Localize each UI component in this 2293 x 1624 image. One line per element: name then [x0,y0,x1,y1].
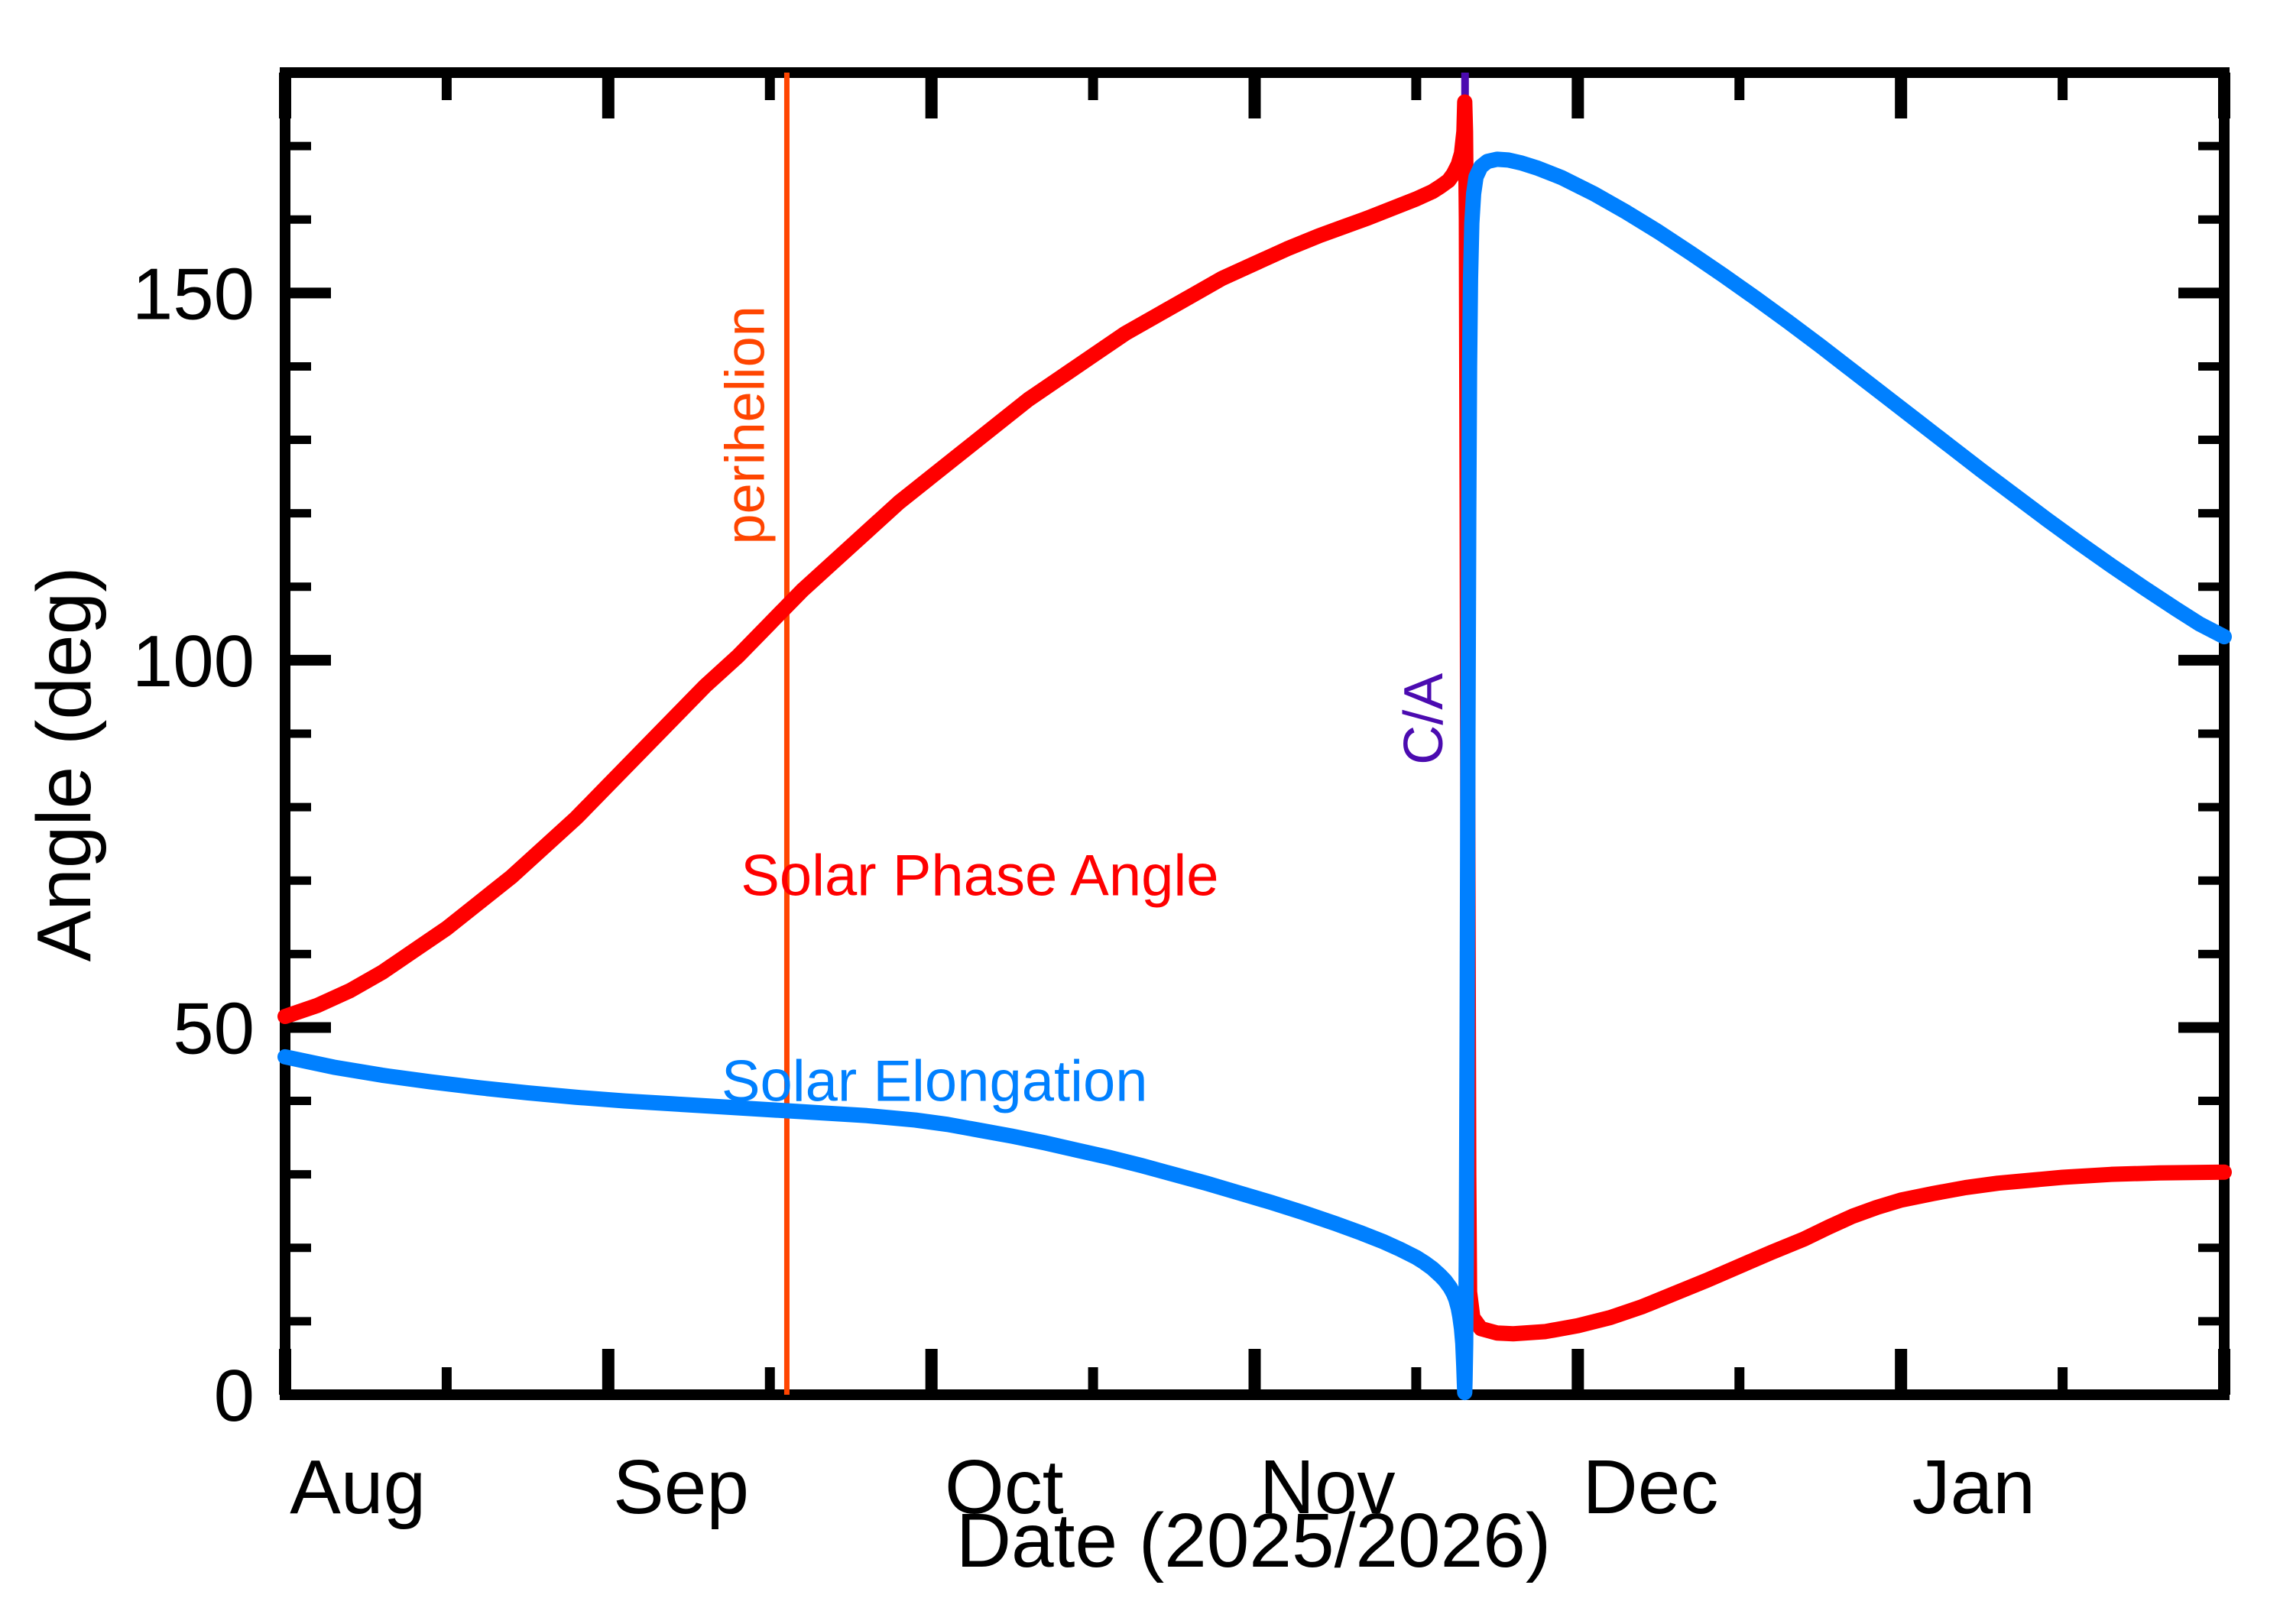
y-tick-label: 100 [132,621,255,702]
x-axis-title: Date (2025/2026) [956,1498,1551,1583]
x-tick-label-dec: Dec [1583,1444,1719,1530]
y-axis-title: Angle (deg) [21,567,107,962]
series-label-solar-phase-angle: Solar Phase Angle [741,843,1218,908]
x-tick-label-jan: Jan [1912,1444,2035,1530]
vline-label-perihelion: perihelion [715,306,776,544]
series-label-solar-elongation: Solar Elongation [722,1049,1148,1114]
figure-background [0,0,2293,1624]
y-tick-label: 50 [173,987,255,1069]
y-tick-label: 0 [214,1355,255,1437]
x-tick-label-sep: Sep [613,1444,749,1530]
y-tick-label: 150 [132,253,255,335]
chart-figure: 050100150 AugSepOctNovDecJan perihelionC… [0,0,2293,1624]
vline-label-close-approach: C/A [1393,673,1455,765]
angle-vs-date-chart: 050100150 AugSepOctNovDecJan perihelionC… [0,0,2293,1624]
x-tick-label-aug: Aug [290,1444,426,1530]
